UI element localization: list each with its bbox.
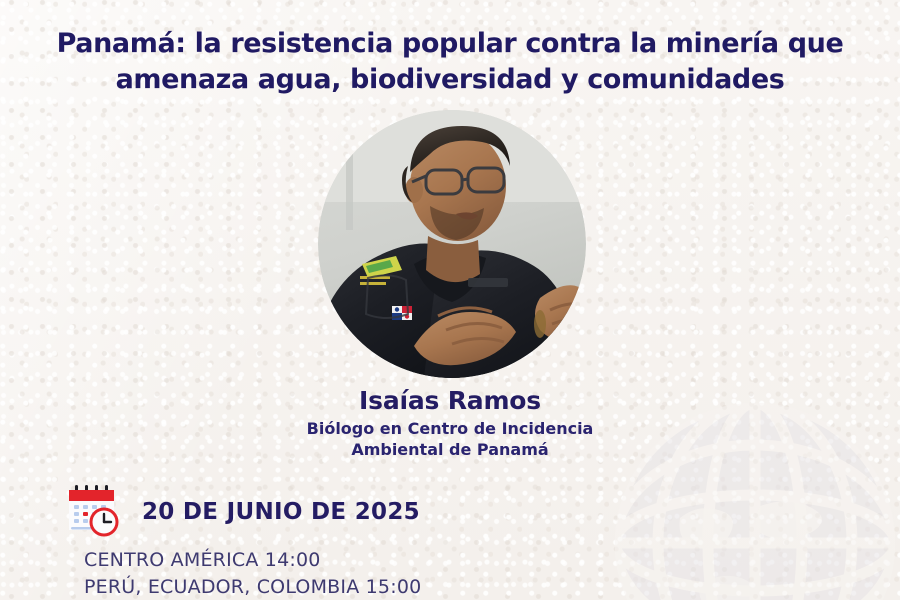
speaker-block: Isaías Ramos Biólogo en Centro de Incide…: [0, 386, 900, 460]
speaker-photo: [318, 110, 586, 378]
event-time-line-1: CENTRO AMÉRICA 14:00: [84, 547, 536, 574]
webinar-poster: Panamá: la resistencia popular contra la…: [0, 0, 900, 600]
speaker-role-line-1: Biólogo en Centro de Incidencia: [0, 418, 900, 439]
speaker-role: Biólogo en Centro de Incidencia Ambienta…: [0, 418, 900, 460]
page-title: Panamá: la resistencia popular contra la…: [0, 26, 900, 98]
event-time-line-2: PERÚ, ECUADOR, COLOMBIA 15:00: [84, 574, 536, 600]
event-date-row: 20 DE JUNIO DE 2025: [66, 484, 536, 540]
event-date: 20 DE JUNIO DE 2025: [142, 499, 420, 525]
calendar-clock-icon: [66, 484, 124, 540]
speaker-name: Isaías Ramos: [0, 386, 900, 415]
event-times: CENTRO AMÉRICA 14:00 PERÚ, ECUADOR, COLO…: [84, 547, 536, 600]
title-line-1: Panamá: la resistencia popular contra la…: [0, 26, 900, 62]
event-details: 20 DE JUNIO DE 2025 CENTRO AMÉRICA 14:00…: [66, 484, 536, 600]
speaker-photo-art: [318, 110, 586, 378]
title-line-2: amenaza agua, biodiversidad y comunidade…: [0, 62, 900, 98]
speaker-role-line-2: Ambiental de Panamá: [0, 439, 900, 460]
